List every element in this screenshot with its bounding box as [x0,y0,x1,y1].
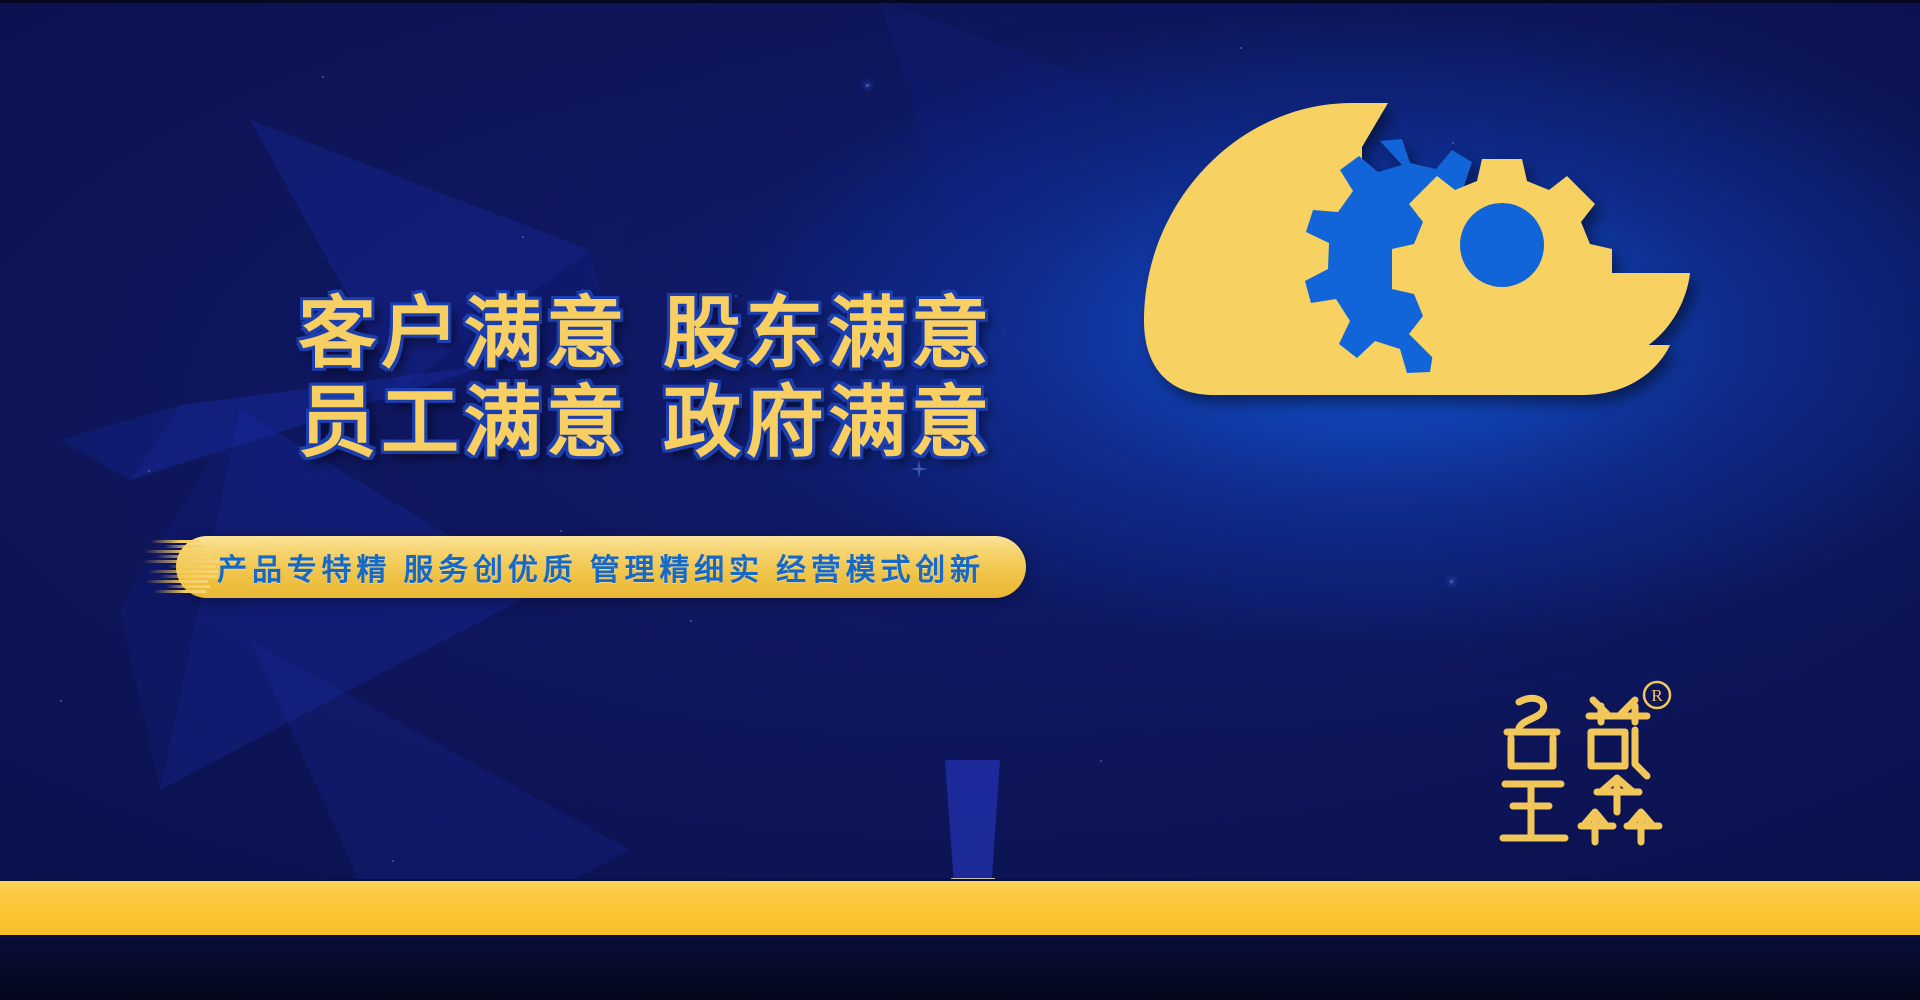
bottom-gold-bar [0,879,1920,937]
headline-line1-part1: 客户满意 [298,290,629,377]
bg-polygon-top-center [760,0,1120,260]
poster-canvas: 客户满意股东满意 员工满意政府满意 产品专特精 服务创优质 管理精细实 经营模式… [0,0,1920,1000]
headline-line-2: 员工满意政府满意 [236,379,1056,468]
registered-trademark-icon: R [1644,682,1670,708]
svg-text:R: R [1651,686,1663,705]
brand-seal-mark: R [1485,680,1685,855]
slogan-banner: 产品专特精 服务创优质 管理精细实 经营模式创新 [176,536,1026,598]
banner-frayed-edge [142,536,232,598]
headline-line1-part2: 股东满意 [663,290,994,377]
headline-line-1: 客户满意股东满意 [236,290,1056,379]
banner-slogan-text: 产品专特精 服务创优质 管理精细实 经营模式创新 [217,545,985,589]
headline-slogan: 客户满意股东满意 员工满意政府满意 [236,290,1056,468]
bottom-dark-strip [0,937,1920,1000]
company-logo [1130,95,1690,395]
headline-line2-part1: 员工满意 [298,379,629,466]
headline-line2-part2: 政府满意 [663,379,994,466]
